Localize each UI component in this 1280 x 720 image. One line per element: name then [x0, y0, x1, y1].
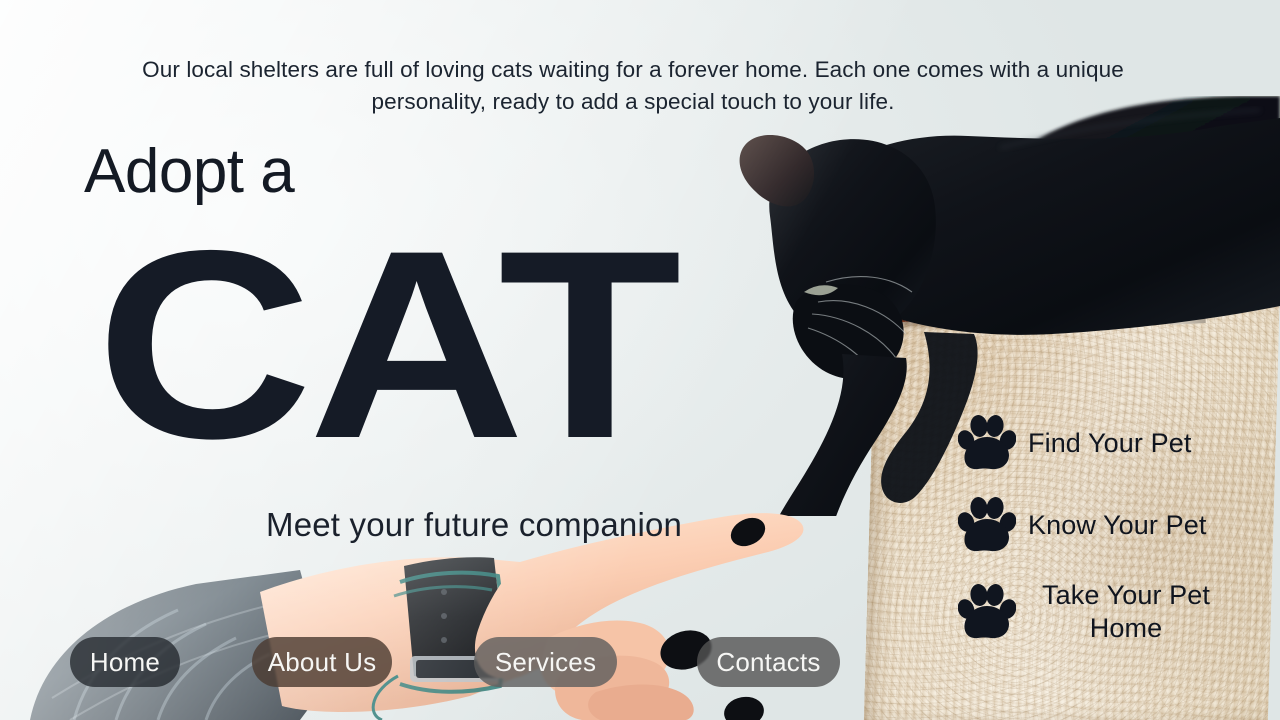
tagline: Meet your future companion — [266, 505, 682, 545]
feature-label: Find Your Pet — [1028, 427, 1191, 460]
nav-label: Home — [90, 647, 160, 678]
nav-item-home[interactable]: Home — [70, 637, 180, 687]
page-title: CAT — [96, 205, 677, 483]
feature-list: Find Your Pet Know Your Pet — [958, 415, 1258, 645]
feature-label: Take Your Pet Home — [1028, 579, 1224, 645]
nav-label: About Us — [268, 647, 377, 678]
main-navigation: Home About Us Services Contacts — [70, 637, 840, 687]
feature-label: Know Your Pet — [1028, 509, 1206, 542]
nav-label: Services — [495, 647, 596, 678]
paw-icon — [958, 584, 1016, 640]
feature-item-take-your-pet-home[interactable]: Take Your Pet Home — [958, 579, 1258, 645]
nav-label: Contacts — [716, 647, 820, 678]
nav-item-services[interactable]: Services — [474, 637, 617, 687]
hero-banner: Our local shelters are full of loving ca… — [0, 0, 1280, 720]
feature-item-know-your-pet[interactable]: Know Your Pet — [958, 497, 1258, 553]
paw-icon — [958, 497, 1016, 553]
nav-item-contacts[interactable]: Contacts — [697, 637, 840, 687]
intro-paragraph: Our local shelters are full of loving ca… — [88, 54, 1178, 118]
nav-item-about-us[interactable]: About Us — [252, 637, 392, 687]
feature-item-find-your-pet[interactable]: Find Your Pet — [958, 415, 1258, 471]
paw-icon — [958, 415, 1016, 471]
